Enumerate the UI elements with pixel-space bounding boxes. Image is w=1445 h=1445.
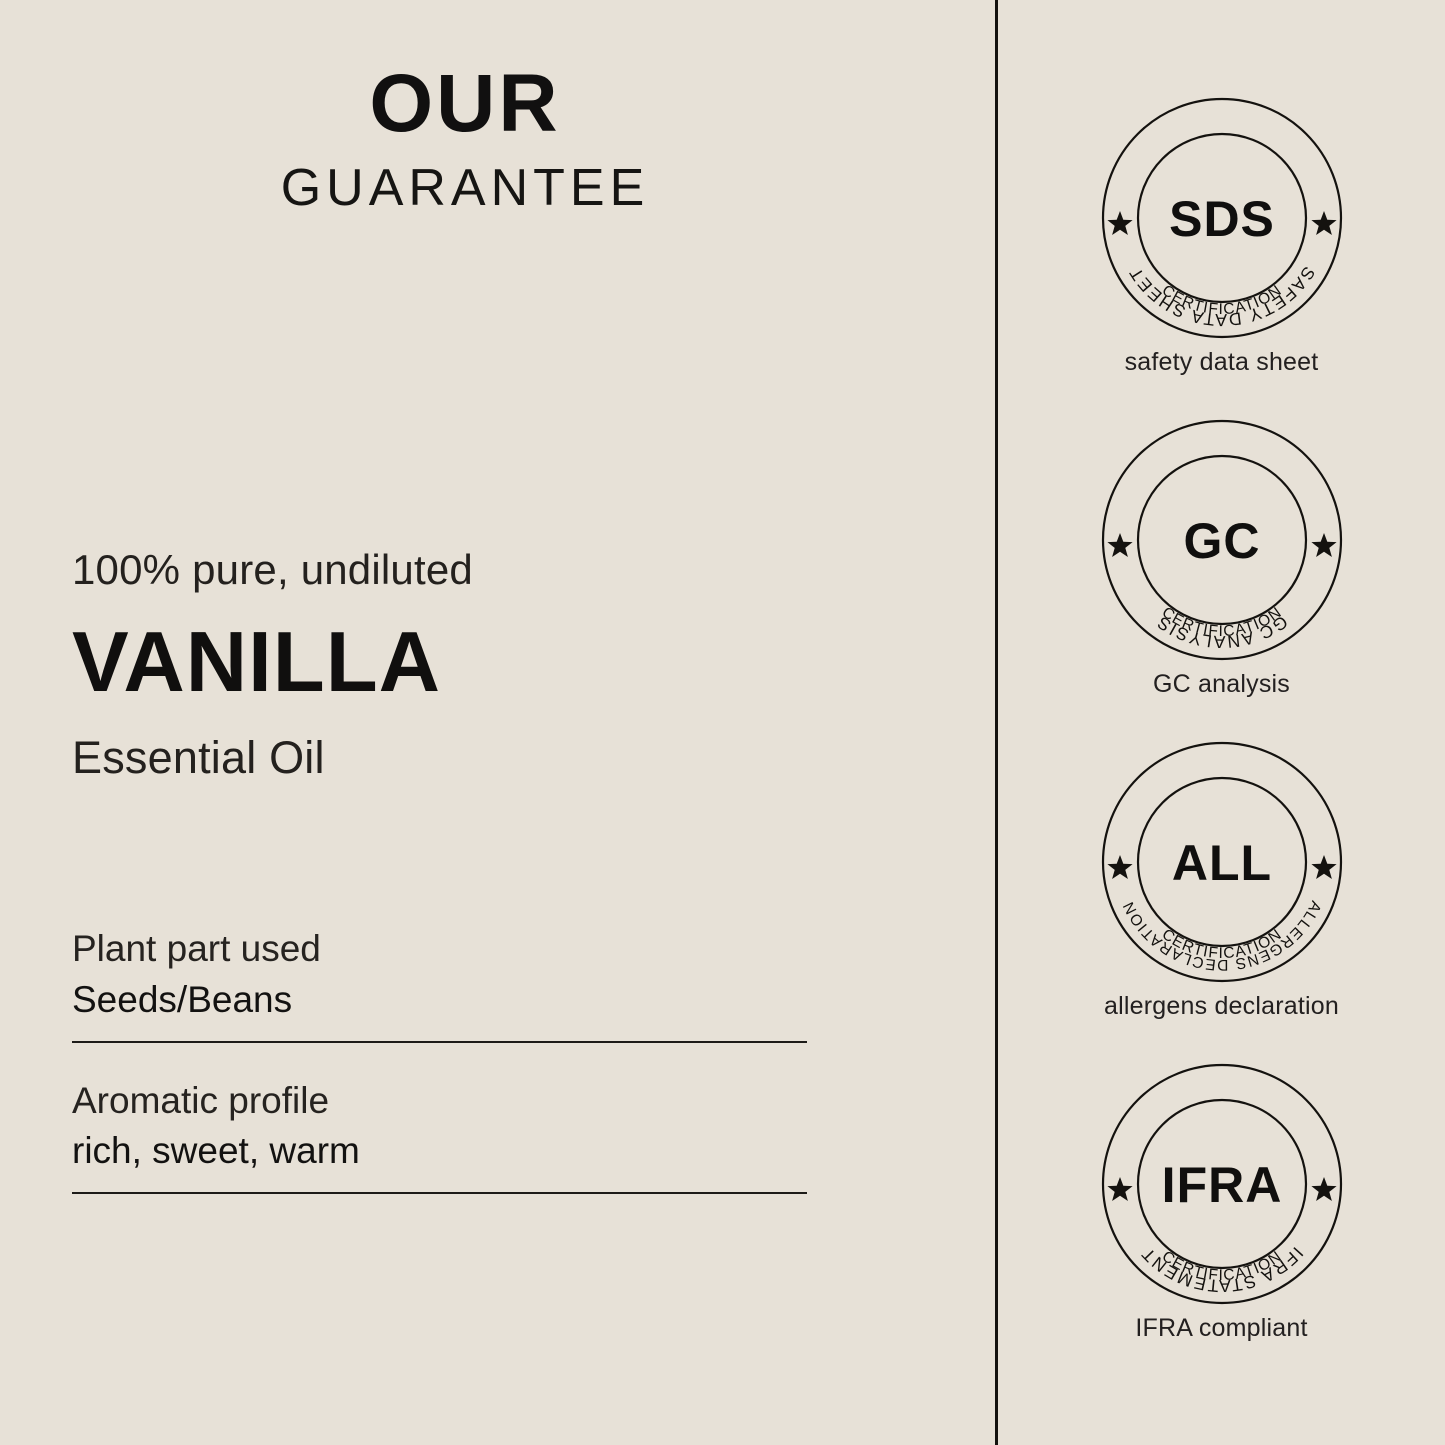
page-title: OUR GUARANTEE [0, 62, 930, 217]
attribute-value: Seeds/Beans [72, 976, 807, 1025]
badge-caption: IFRA compliant [998, 1314, 1445, 1343]
star-icon [1311, 855, 1336, 879]
attribute-row-plant-part: Plant part used Seeds/Beans [72, 925, 807, 1043]
certification-badge-ifra: IFRA STATEMENT CERTIFICATION IFRA IFRA c… [998, 1062, 1445, 1384]
heading-line-our: OUR [0, 62, 930, 146]
seal-icon: GC ANALYSIS CERTIFICATION GC [1100, 418, 1344, 662]
product-guarantee-panel: OUR GUARANTEE 100% pure, undiluted VANIL… [0, 0, 1445, 1445]
seal-icon: SAFETY DATA SHEET CERTIFICATION SDS [1100, 96, 1344, 340]
right-panel: SAFETY DATA SHEET CERTIFICATION SDS safe… [998, 0, 1445, 1445]
star-icon [1107, 855, 1132, 879]
certification-badge-sds: SAFETY DATA SHEET CERTIFICATION SDS safe… [998, 96, 1445, 418]
product-block: 100% pure, undiluted VANILLA Essential O… [72, 545, 892, 785]
seal-abbreviation: IFRA [1161, 1157, 1282, 1213]
seal-abbreviation: GC [1183, 513, 1260, 569]
certification-badge-all: ALLERGENS DECLARATION CERTIFICATION ALL … [998, 740, 1445, 1062]
star-icon [1107, 533, 1132, 557]
seal-abbreviation: SDS [1169, 191, 1275, 247]
product-purity-text: 100% pure, undiluted [72, 545, 892, 595]
seal-abbreviation: ALL [1171, 835, 1271, 891]
left-panel: OUR GUARANTEE 100% pure, undiluted VANIL… [0, 0, 995, 1445]
star-icon [1311, 1177, 1336, 1201]
star-icon [1311, 533, 1336, 557]
product-type: Essential Oil [72, 731, 892, 785]
attribute-value: rich, sweet, warm [72, 1127, 807, 1176]
certification-badge-gc: GC ANALYSIS CERTIFICATION GC GC analysis [998, 418, 1445, 740]
heading-line-guarantee: GUARANTEE [0, 160, 930, 217]
badge-caption: safety data sheet [998, 348, 1445, 377]
product-name: VANILLA [72, 617, 892, 709]
attributes-list: Plant part used Seeds/Beans Aromatic pro… [72, 925, 807, 1194]
attribute-row-aromatic-profile: Aromatic profile rich, sweet, warm [72, 1077, 807, 1195]
seal-icon: ALLERGENS DECLARATION CERTIFICATION ALL [1100, 740, 1344, 984]
badge-caption: GC analysis [998, 670, 1445, 699]
star-icon [1311, 211, 1336, 235]
attribute-label: Plant part used [72, 925, 807, 974]
badge-caption: allergens declaration [998, 992, 1445, 1021]
seal-top-text: SAFETY DATA SHEET [1124, 263, 1318, 330]
attribute-divider [72, 1041, 807, 1043]
star-icon [1107, 1177, 1132, 1201]
seal-icon: IFRA STATEMENT CERTIFICATION IFRA [1100, 1062, 1344, 1306]
certification-badge-list: SAFETY DATA SHEET CERTIFICATION SDS safe… [998, 96, 1445, 1384]
attribute-label: Aromatic profile [72, 1077, 807, 1126]
svg-text:SAFETY DATA SHEET: SAFETY DATA SHEET [1124, 263, 1318, 330]
attribute-divider [72, 1192, 807, 1194]
star-icon [1107, 211, 1132, 235]
